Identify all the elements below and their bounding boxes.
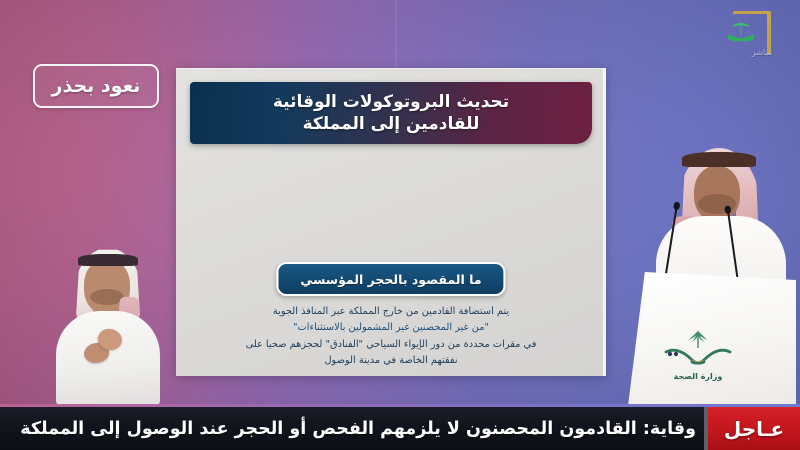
saudi-emblem-icon	[727, 20, 755, 50]
interpreter-thobe	[56, 311, 160, 405]
slide-title-line-1: تحديث البروتوكولات الوقائية	[273, 91, 509, 113]
slide-body-line-4: نفقتهم الخاصة في مدينة الوصول	[196, 353, 586, 369]
interpreter-igal	[78, 254, 138, 266]
live-indicator-label: مباشر	[752, 48, 772, 57]
breaking-news-badge: عـاجل	[708, 407, 800, 450]
ministry-of-health-logo-icon	[650, 326, 746, 372]
presentation-slide: تحديث البروتوكولات الوقائية للقادمين إلى…	[176, 68, 606, 376]
caution-campaign-label: نعود بحذر	[52, 75, 141, 97]
ticker-headline: وقاية: القادمون المحصنون لا يلزمهم الفحص…	[8, 407, 696, 450]
slide-body-line-2: "من غير المحصنين غير المشمولين بالاستثنا…	[196, 320, 586, 336]
breaking-news-label: عـاجل	[724, 417, 784, 441]
slide-subhead-pill: ما المقصود بالحجر المؤسسي	[276, 262, 505, 296]
sign-language-interpreter	[48, 245, 168, 405]
news-ticker: وقاية: القادمون المحصنون لا يلزمهم الفحص…	[0, 404, 800, 450]
slide-subhead-label: ما المقصود بالحجر المؤسسي	[300, 272, 481, 287]
slide-body-line-3: في مقرات محددة من دور الإيواء السياحي "ا…	[196, 337, 586, 353]
slide-title-line-2: للقادمين إلى المملكة	[273, 113, 509, 135]
podium-logo-text: وزارة الصحة	[650, 372, 746, 381]
ticker-headline-text: وقاية: القادمون المحصنون لا يلزمهم الفحص…	[20, 419, 696, 439]
caution-campaign-badge: نعود بحذر	[33, 64, 159, 108]
slide-body-text: يتم استضافة القادمين من خارج المملكة عبر…	[196, 304, 586, 370]
broadcast-screen: نعود بحذر مباشر تحديث البروتوكولات الوقا…	[0, 0, 800, 450]
speaker-igal	[682, 152, 756, 167]
slide-title: تحديث البروتوكولات الوقائية للقادمين إلى…	[263, 91, 519, 135]
channel-logo	[723, 9, 773, 53]
press-conference-speaker: وزارة الصحة	[606, 130, 800, 406]
slide-body-line-1: يتم استضافة القادمين من خارج المملكة عبر…	[196, 304, 586, 320]
podium-logo: وزارة الصحة	[650, 326, 746, 388]
slide-title-bar: تحديث البروتوكولات الوقائية للقادمين إلى…	[190, 82, 592, 144]
